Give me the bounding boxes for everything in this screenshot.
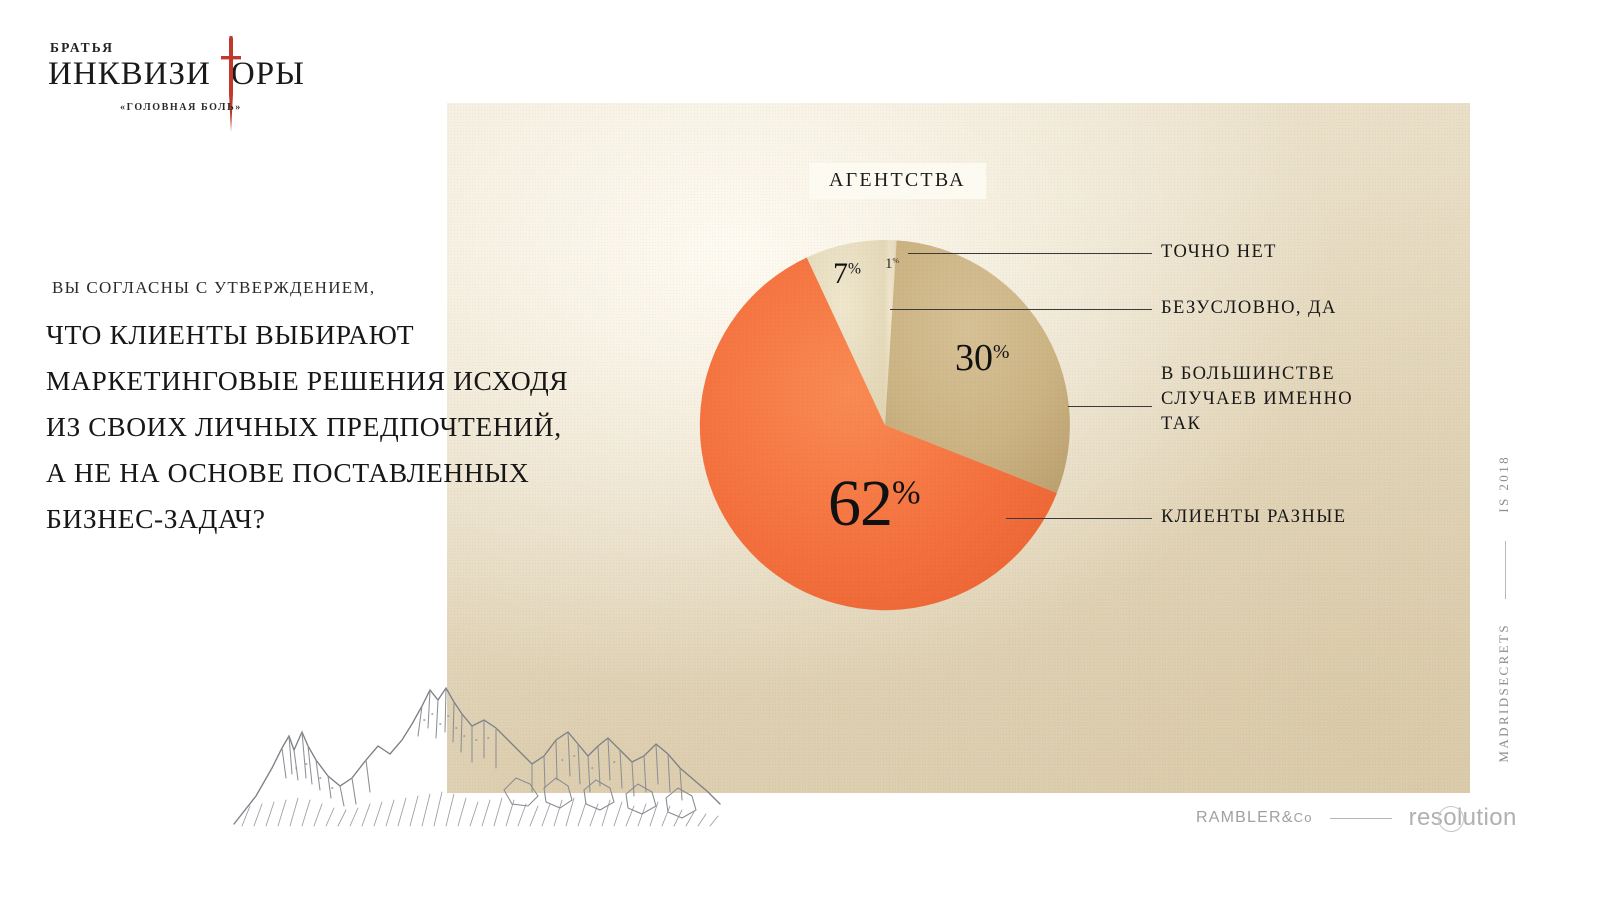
headline-line-3: ИЗ СВОИХ ЛИЧНЫХ ПРЕДПОЧТЕНИЙ, xyxy=(46,404,686,450)
legend-item-v-bolshinstve: В БОЛЬШИНСТВЕ СЛУЧАЕВ ИМЕННО ТАК xyxy=(1161,362,1353,437)
side-meta: IS 2018 MADRIDSECRETS xyxy=(1496,455,1536,800)
pie-value-1: 1% xyxy=(885,256,899,273)
legend-item-3-line-3: ТАК xyxy=(1161,412,1353,437)
legend-item-3-line-2: СЛУЧАЕВ ИМЕННО xyxy=(1161,387,1353,412)
headline-line-4: А НЕ НА ОСНОВЕ ПОСТАВЛЕННЫХ xyxy=(46,450,686,496)
footer-divider xyxy=(1330,818,1392,819)
chart-title-badge: АГЕНТСТВА xyxy=(809,163,986,199)
logo-tagline: «ГОЛОВНАЯ БОЛЬ» xyxy=(120,102,242,113)
slide-root: БРАТЬЯ ИНКВИЗИОРЫ «ГОЛОВНАЯ БОЛЬ» ВЫ СОГ… xyxy=(0,0,1600,900)
headline-line-2: МАРКЕТИНГОВЫЕ РЕШЕНИЯ ИСХОДЯ xyxy=(46,358,686,404)
mountain-illustration xyxy=(232,628,722,828)
logo-top-word: БРАТЬЯ xyxy=(50,40,114,56)
legend-item-3-line-1: В БОЛЬШИНСТВЕ xyxy=(1161,362,1353,387)
side-meta-year: IS 2018 xyxy=(1496,455,1512,513)
pie-chart xyxy=(698,238,1072,612)
headline-line-5: БИЗНЕС-ЗАДАЧ? xyxy=(46,496,686,542)
sword-icon xyxy=(216,36,246,136)
pie-value-30: 30% xyxy=(955,336,1009,380)
side-meta-brand: MADRIDSECRETS xyxy=(1496,623,1512,763)
pie-chart-svg xyxy=(698,238,1072,612)
pie-value-62: 62% xyxy=(828,466,921,542)
footer-logos: RAMBLER&Co resolution xyxy=(1196,805,1517,831)
leader-line-4 xyxy=(1006,518,1152,519)
leader-line-3 xyxy=(1068,406,1152,407)
logo-main-left: ИНКВИЗИ xyxy=(48,56,211,92)
mountain-illustration-svg xyxy=(232,628,722,828)
leader-line-1 xyxy=(908,253,1152,254)
brand-logo: БРАТЬЯ ИНКВИЗИОРЫ «ГОЛОВНАЯ БОЛЬ» xyxy=(48,40,288,132)
leader-line-2 xyxy=(890,309,1152,310)
legend-item-tochno-net: ТОЧНО НЕТ xyxy=(1161,240,1277,265)
resolution-ring: o xyxy=(1443,806,1457,830)
rambler-logo: RAMBLER&Co xyxy=(1196,809,1313,827)
legend-item-bezuslovno-da: БЕЗУСЛОВНО, ДА xyxy=(1161,296,1337,321)
question-headline: ЧТО КЛИЕНТЫ ВЫБИРАЮТ МАРКЕТИНГОВЫЕ РЕШЕН… xyxy=(46,312,686,542)
pie-value-7: 7% xyxy=(833,257,861,291)
headline-line-1: ЧТО КЛИЕНТЫ ВЫБИРАЮТ xyxy=(46,312,686,358)
logo-main-word: ИНКВИЗИОРЫ xyxy=(48,56,305,93)
question-kicker: ВЫ СОГЛАСНЫ С УТВЕРЖДЕНИЕМ, xyxy=(52,278,612,298)
legend-item-klienty-raznye: КЛИЕНТЫ РАЗНЫЕ xyxy=(1161,505,1346,530)
resolution-logo: resolution xyxy=(1409,806,1517,830)
side-meta-divider xyxy=(1505,541,1506,599)
